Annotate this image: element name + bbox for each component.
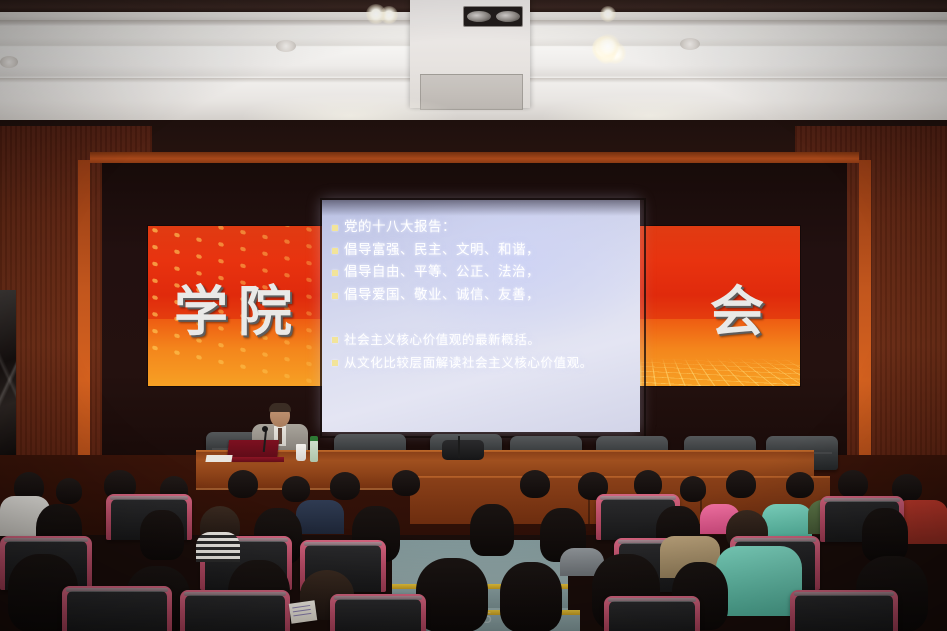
audience-head <box>282 476 310 502</box>
audience-head <box>520 470 550 498</box>
audience-seat <box>604 596 700 631</box>
seat-rail <box>66 588 168 592</box>
seat-rail <box>794 592 894 596</box>
audience-seat <box>180 590 290 631</box>
ceiling <box>0 0 947 126</box>
seat-rail <box>4 538 88 542</box>
banner-title-right: 会 <box>710 267 774 346</box>
seat-back-panel <box>185 595 285 631</box>
seat-rail <box>304 542 382 546</box>
audience-head <box>680 476 706 502</box>
microphone-head-icon <box>262 426 268 432</box>
audience-seat <box>330 594 426 631</box>
seat-back-panel <box>609 601 695 631</box>
audience-head <box>140 510 184 560</box>
audience-head <box>392 470 420 496</box>
projection-screen-frame <box>320 198 646 438</box>
seat-rail <box>334 596 422 600</box>
paper-cup <box>296 444 306 461</box>
downlight-trim-icon <box>276 40 296 52</box>
audience-head <box>330 472 360 500</box>
audience-area <box>0 470 947 631</box>
audience-head <box>228 470 258 498</box>
water-bottle-cap <box>310 436 318 441</box>
microphone-stem <box>458 436 460 458</box>
notebook <box>289 600 318 623</box>
spotlight-icon <box>366 4 386 24</box>
audience-person-body <box>296 500 344 534</box>
audience-head <box>838 470 868 498</box>
audience-head <box>726 470 756 498</box>
audience-head <box>786 472 814 498</box>
audience-head <box>416 558 488 631</box>
seat-rail <box>184 592 286 596</box>
papers-on-table <box>205 455 232 462</box>
water-bottle <box>310 440 318 462</box>
banner-title-left: 学院 <box>174 267 302 346</box>
downlight-trim-icon <box>680 38 700 50</box>
seat-rail <box>608 598 696 602</box>
audience-head <box>500 562 562 631</box>
seat-back-panel <box>335 599 421 631</box>
proscenium-header <box>90 152 859 163</box>
seat-rail <box>824 498 900 502</box>
audience-person-body <box>196 532 240 562</box>
audience-seat <box>790 590 898 631</box>
spotlight-icon <box>596 34 620 58</box>
lamp-lens-left <box>467 11 491 22</box>
seat-back-panel <box>795 595 893 631</box>
audience-head <box>470 504 514 556</box>
lamp-lens-right <box>496 11 520 22</box>
audience-head <box>862 508 908 562</box>
seat-rail <box>600 496 676 500</box>
seat-back-panel <box>67 591 167 631</box>
spotlight-icon <box>600 6 616 22</box>
lecture-hall-photo: 学院 会 党的十八大报告： 倡导富强、民主、文明、和谐， 倡导自由、平等、公正、… <box>0 0 947 631</box>
audience-seat <box>62 586 172 631</box>
ceiling-lamp-fixture-icon <box>463 6 523 27</box>
audience-head <box>56 478 82 504</box>
audience-person-body <box>762 504 812 540</box>
seat-rail <box>110 496 188 500</box>
downlight-trim-icon <box>0 56 18 68</box>
dark-bag-on-table <box>442 440 484 460</box>
seat-rail <box>734 538 816 542</box>
presenter-hair <box>269 403 291 412</box>
